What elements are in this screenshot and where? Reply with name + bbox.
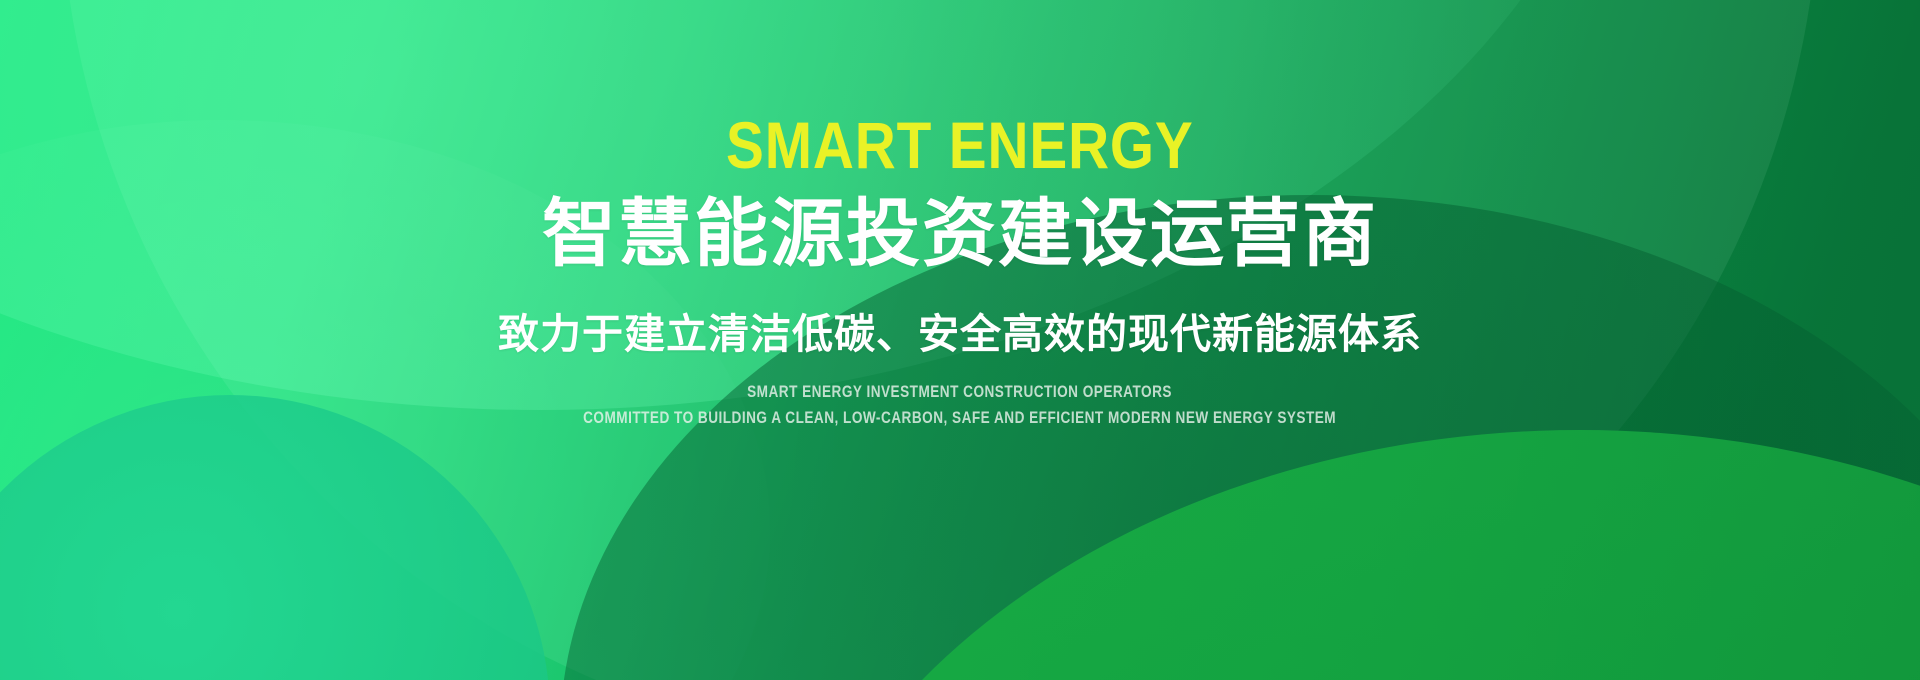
hero-text-block: SMART ENERGY 智慧能源投资建设运营商 致力于建立清洁低碳、安全高效的… (0, 0, 1920, 680)
hero-eyebrow-english: SMART ENERGY (726, 112, 1194, 178)
hero-tagline-english-line-1: SMART ENERGY INVESTMENT CONSTRUCTION OPE… (748, 379, 1173, 405)
hero-subheadline-chinese: 致力于建立清洁低碳、安全高效的现代新能源体系 (498, 312, 1422, 357)
hero-tagline-english-line-2: COMMITTED TO BUILDING A CLEAN, LOW-CARBO… (584, 405, 1337, 431)
hero-banner: SMART ENERGY 智慧能源投资建设运营商 致力于建立清洁低碳、安全高效的… (0, 0, 1920, 680)
hero-headline-chinese: 智慧能源投资建设运营商 (542, 196, 1378, 274)
